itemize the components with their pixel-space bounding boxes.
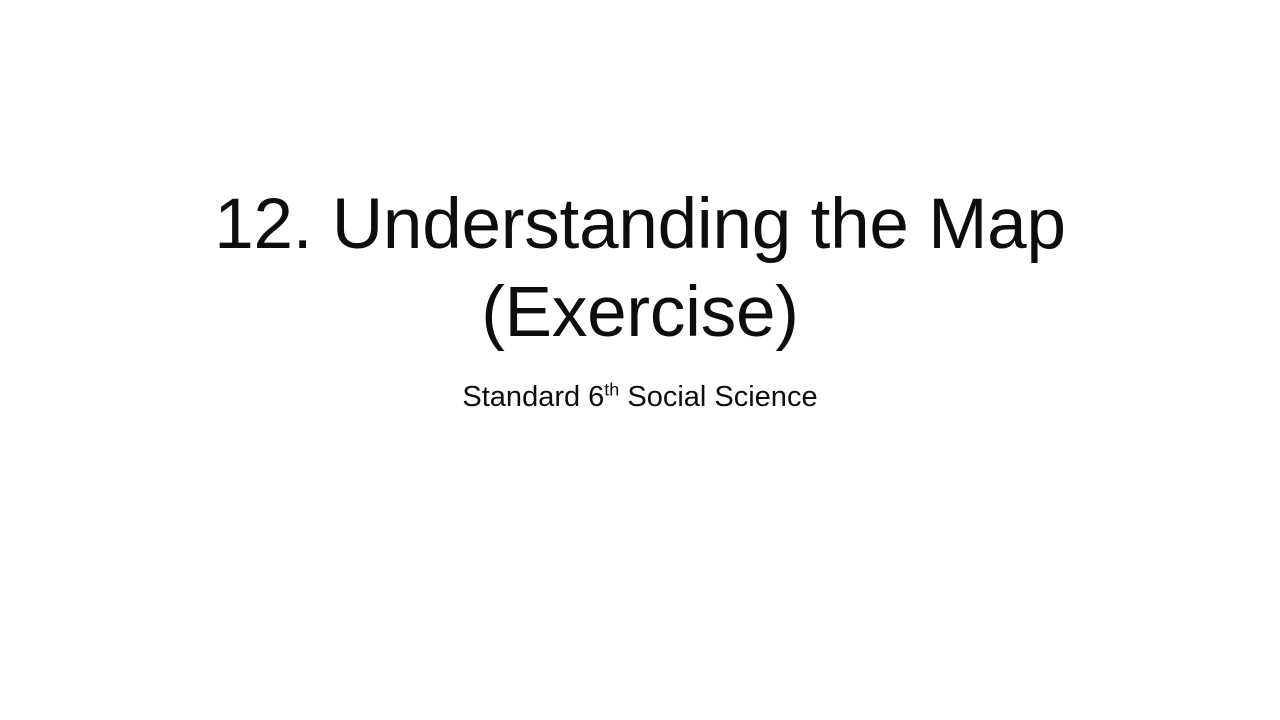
title-placeholder[interactable]: 12. Understanding the Map (Exercise) — [0, 181, 1280, 357]
subtitle-text-before: Standard 6 — [462, 381, 604, 413]
slide-subtitle: Standard 6th Social Science — [0, 380, 1280, 414]
page-title: 12. Understanding the Map (Exercise) — [0, 181, 1280, 357]
subtitle-text-after: Social Science — [619, 381, 817, 413]
subtitle-placeholder[interactable]: Standard 6th Social Science — [0, 380, 1280, 414]
title-slide: 12. Understanding the Map (Exercise) Sta… — [0, 0, 1280, 720]
subtitle-ordinal-superscript: th — [604, 379, 619, 399]
slide-body-empty-area — [0, 430, 1280, 720]
